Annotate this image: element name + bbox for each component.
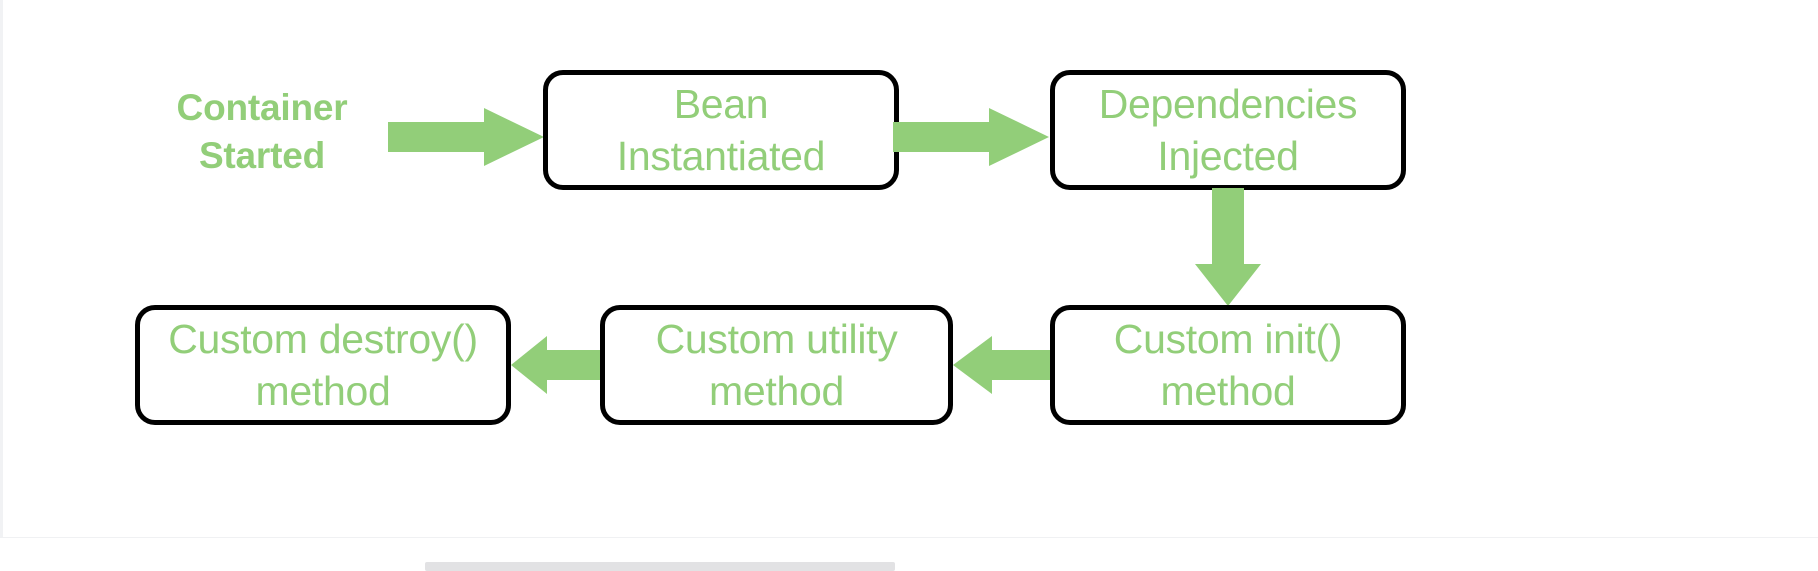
node-custom-destroy-method[interactable]: Custom destroy() method bbox=[135, 305, 511, 425]
page-bottom-strip bbox=[0, 537, 1818, 571]
node-label-line1: Custom utility bbox=[656, 313, 898, 365]
node-label-line1: Container bbox=[177, 87, 348, 128]
page-left-edge bbox=[0, 0, 3, 537]
node-bean-instantiated[interactable]: Bean Instantiated bbox=[543, 70, 899, 190]
node-label-line2: Instantiated bbox=[617, 130, 825, 182]
page-bottom-bar bbox=[425, 562, 895, 571]
arrow-down-dependencies-to-init bbox=[1195, 188, 1261, 306]
node-label-line2: method bbox=[656, 365, 898, 417]
arrow-left-utility-to-destroy bbox=[511, 336, 607, 394]
node-label-line1: Dependencies bbox=[1099, 78, 1358, 130]
arrow-right-container-to-bean bbox=[388, 108, 544, 166]
node-label-line2: Started bbox=[199, 135, 325, 176]
node-custom-utility-method[interactable]: Custom utility method bbox=[600, 305, 953, 425]
node-label-line1: Custom destroy() bbox=[168, 313, 478, 365]
node-custom-init-method[interactable]: Custom init() method bbox=[1050, 305, 1406, 425]
arrow-right-bean-to-dependencies bbox=[893, 108, 1049, 166]
node-container-started: Container Started bbox=[148, 78, 376, 186]
node-label-line2: method bbox=[168, 365, 478, 417]
node-label-line2: Injected bbox=[1099, 130, 1358, 182]
diagram-canvas: Container Started Bean Instantiated Depe… bbox=[0, 0, 1818, 571]
node-label-line1: Custom init() bbox=[1114, 313, 1342, 365]
node-label-line2: method bbox=[1114, 365, 1342, 417]
arrow-left-init-to-utility bbox=[953, 336, 1052, 394]
node-label-line1: Bean bbox=[617, 78, 825, 130]
node-dependencies-injected[interactable]: Dependencies Injected bbox=[1050, 70, 1406, 190]
